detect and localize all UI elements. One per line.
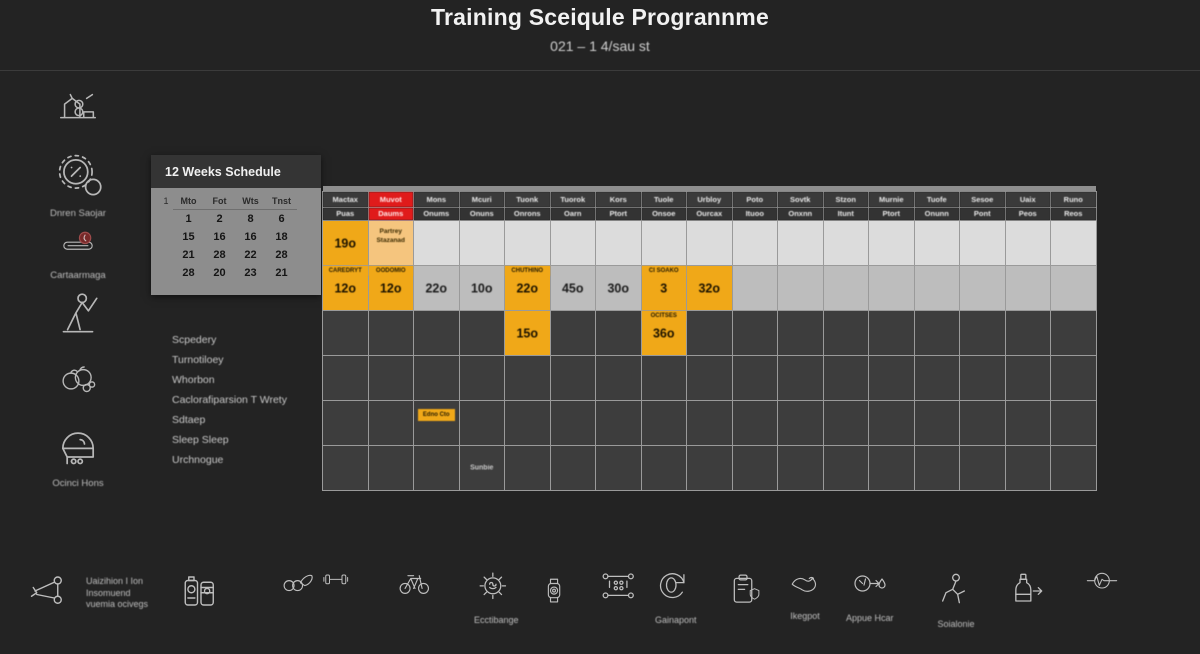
grid-cell-content bbox=[869, 221, 914, 265]
grid-cell-content bbox=[733, 266, 778, 310]
grid-cell-content bbox=[778, 221, 823, 265]
grid-cell-empty[interactable] bbox=[414, 310, 460, 355]
grid-cell-content bbox=[460, 401, 505, 445]
grid-column-header[interactable]: Oarn bbox=[550, 207, 596, 220]
grid-cell-content: 32o bbox=[687, 266, 732, 310]
grid-cell-content bbox=[687, 446, 732, 490]
grid-cell-content bbox=[551, 446, 596, 490]
grid-cell-empty[interactable] bbox=[732, 265, 778, 310]
grid-column-header[interactable]: Onunn bbox=[914, 207, 960, 220]
calendar-date-cell[interactable]: 16 bbox=[235, 228, 266, 246]
grid-cell-value: 30o bbox=[596, 281, 641, 295]
grid-column-header[interactable]: Itunt bbox=[823, 207, 869, 220]
grid-cell-filled[interactable]: OODOMIO12o bbox=[368, 265, 414, 310]
calendar-day-header: Mto bbox=[173, 193, 204, 210]
calendar-panel[interactable]: 12 Weeks Schedule 1MtoFotWtsTnst12861516… bbox=[151, 155, 321, 295]
grid-cell-content bbox=[869, 446, 914, 490]
grid-cell-content bbox=[915, 221, 960, 265]
sidebar-item-2[interactable]: Dnren Saojar bbox=[18, 148, 138, 220]
grid-cell-content: 19o bbox=[323, 221, 368, 265]
calendar-date-cell[interactable]: 8 bbox=[235, 210, 266, 228]
grid-cell-empty[interactable] bbox=[368, 445, 414, 490]
grid-cell-value: 12o bbox=[323, 281, 368, 295]
grid-cell-filled[interactable]: CAREDRYT12o bbox=[323, 265, 369, 310]
grid-cell-filled[interactable]: Edno Cto bbox=[414, 400, 460, 445]
clipboard-shield-icon bbox=[728, 599, 766, 616]
grid-cell-value: 3 bbox=[642, 281, 687, 295]
grid-cell-empty[interactable] bbox=[732, 310, 778, 355]
grid-cell-empty[interactable] bbox=[550, 445, 596, 490]
grid-cell-empty[interactable] bbox=[1005, 220, 1051, 265]
grid-cell-ghost-label: Sunbie bbox=[460, 464, 505, 471]
sidebar-item-4[interactable] bbox=[18, 290, 138, 345]
grid-cell-content bbox=[915, 356, 960, 400]
grid-cell-value: 15o bbox=[505, 326, 550, 340]
grid-cell-empty[interactable] bbox=[914, 310, 960, 355]
grid-cell-empty[interactable] bbox=[1005, 265, 1051, 310]
grid-column-header[interactable]: Poto bbox=[732, 191, 778, 207]
bottom-item-9[interactable]: Gainapont bbox=[655, 570, 697, 627]
calendar-date-cell[interactable]: 1 bbox=[173, 210, 204, 228]
grid-cell-empty[interactable] bbox=[960, 220, 1006, 265]
grid-column-header[interactable]: Runo bbox=[1051, 191, 1097, 207]
grid-cell-empty[interactable] bbox=[732, 400, 778, 445]
grid-cell-value: 32o bbox=[687, 281, 732, 295]
grid-cell-content bbox=[323, 446, 368, 490]
calendar-date-cell[interactable]: 22 bbox=[235, 246, 266, 264]
grid-cell-empty[interactable] bbox=[596, 445, 642, 490]
tactics-board-icon bbox=[596, 595, 642, 612]
grid-cell-empty[interactable] bbox=[960, 400, 1006, 445]
grid-cell-empty[interactable] bbox=[823, 265, 869, 310]
grid-column-header[interactable]: Urbloy bbox=[687, 191, 733, 207]
grid-cell-empty[interactable] bbox=[596, 400, 642, 445]
bottom-icon-bar: Uaizihion I IonInsomuendvuemia ocivegsEc… bbox=[0, 570, 1200, 654]
grid-column-header[interactable]: Kors bbox=[596, 191, 642, 207]
grid-cell-empty[interactable] bbox=[596, 310, 642, 355]
grid-column-header[interactable]: Tuorok bbox=[550, 191, 596, 207]
calendar-date-cell[interactable]: 6 bbox=[266, 210, 297, 228]
grid-cell-content bbox=[551, 311, 596, 355]
grid-cell-filled[interactable]: 32o bbox=[687, 265, 733, 310]
grid-cell-filled[interactable]: 10o bbox=[459, 265, 505, 310]
calendar-row-spacer bbox=[159, 210, 173, 228]
calendar-date-cell[interactable]: 23 bbox=[235, 264, 266, 282]
grid-cell-empty[interactable] bbox=[1005, 310, 1051, 355]
sun-brain-icon bbox=[476, 595, 516, 612]
grid-cell-content bbox=[778, 356, 823, 400]
grid-cell-empty[interactable] bbox=[459, 355, 505, 400]
grid-cell-empty[interactable] bbox=[1051, 400, 1097, 445]
bottom-item-12[interactable]: Appue Hcar bbox=[846, 570, 894, 625]
calendar-date-cell[interactable]: 21 bbox=[266, 264, 297, 282]
grid-cell-empty[interactable] bbox=[914, 400, 960, 445]
grid-cell-content bbox=[824, 221, 869, 265]
grid-cell-content bbox=[460, 311, 505, 355]
grid-cell-filled[interactable]: OCITSES36o bbox=[641, 310, 687, 355]
grid-cell-content bbox=[1006, 311, 1051, 355]
grid-cell-content: OODOMIO12o bbox=[369, 266, 414, 310]
grid-column-header[interactable]: Peos bbox=[1005, 207, 1051, 220]
grid-cell-empty[interactable] bbox=[869, 445, 915, 490]
grid-cell-empty[interactable] bbox=[368, 355, 414, 400]
grid-cell-empty[interactable] bbox=[368, 400, 414, 445]
grid-row: Sunbie bbox=[323, 445, 1097, 490]
dumbbell-icon bbox=[315, 587, 359, 604]
grid-cell-empty[interactable] bbox=[960, 445, 1006, 490]
calendar-date-cell[interactable]: 18 bbox=[266, 228, 297, 246]
grid-column-header[interactable]: Ptort bbox=[596, 207, 642, 220]
grid-cell-content bbox=[551, 356, 596, 400]
bottom-item-label: Uaizihion I IonInsomuendvuemia ocivegs bbox=[86, 576, 176, 611]
grid-column-header[interactable]: Onums bbox=[414, 207, 460, 220]
grid-cell-empty[interactable] bbox=[641, 355, 687, 400]
grid-cell-empty[interactable] bbox=[869, 265, 915, 310]
calendar-date-cell[interactable]: 28 bbox=[173, 264, 204, 282]
grid-cell-filled[interactable]: CHUTHINO22o bbox=[505, 265, 551, 310]
calendar-row-spacer bbox=[159, 228, 173, 246]
grid-column-header[interactable]: Mcuri bbox=[459, 191, 505, 207]
grid-cell-content bbox=[505, 356, 550, 400]
grid-cell-filled[interactable]: CI SOAKO3 bbox=[641, 265, 687, 310]
grid-cell-value: 22o bbox=[414, 281, 459, 295]
grid-column-header[interactable]: Onuns bbox=[459, 207, 505, 220]
grid-cell-empty[interactable] bbox=[914, 445, 960, 490]
grid-cell-content bbox=[915, 446, 960, 490]
grid-cell-empty[interactable] bbox=[869, 220, 915, 265]
grid-column-header[interactable]: Onrons bbox=[505, 207, 551, 220]
bottom-item-label: Ecctibange bbox=[474, 615, 519, 627]
grid-cell-content bbox=[778, 311, 823, 355]
calendar-date-cell[interactable]: 16 bbox=[204, 228, 235, 246]
sidebar-item-3[interactable]: Cartaarmaga bbox=[18, 228, 138, 282]
grid-cell-empty[interactable] bbox=[459, 400, 505, 445]
grid-cell-content: OCITSES36o bbox=[642, 311, 687, 355]
grid-cell-empty[interactable] bbox=[1005, 445, 1051, 490]
grid-cell-empty[interactable] bbox=[414, 355, 460, 400]
grid-header-row-2: PuasDaumsOnumsOnunsOnronsOarnPtortOnsoeO… bbox=[323, 207, 1097, 220]
grid-cell-empty[interactable] bbox=[823, 310, 869, 355]
grid-cell-filled[interactable]: 45o bbox=[550, 265, 596, 310]
grid-cell-empty[interactable] bbox=[596, 355, 642, 400]
bottom-item-5[interactable] bbox=[392, 570, 438, 609]
grid-column-header[interactable]: Sovtk bbox=[778, 191, 824, 207]
grid-cell-empty[interactable] bbox=[687, 355, 733, 400]
grid-cell-filled[interactable]: 30o bbox=[596, 265, 642, 310]
bottom-item-1[interactable]: Uaizihion I IonInsomuendvuemia ocivegs bbox=[28, 570, 70, 617]
grid-cell-content bbox=[915, 311, 960, 355]
grid-cell-content bbox=[414, 311, 459, 355]
sidebar-item-5[interactable] bbox=[18, 360, 138, 407]
grid-cell-content bbox=[460, 221, 505, 265]
calendar-date-cell[interactable]: 21 bbox=[173, 246, 204, 264]
grid-cell-tag: CAREDRYT bbox=[323, 266, 368, 276]
bottom-item-4[interactable] bbox=[315, 570, 359, 605]
grid-cell-empty[interactable] bbox=[323, 400, 369, 445]
grid-column-header[interactable]: Uaix bbox=[1005, 191, 1051, 207]
bottom-item-6[interactable]: Ecctibange bbox=[474, 570, 519, 627]
grid-cell-empty[interactable] bbox=[414, 220, 460, 265]
grid-cell-empty[interactable] bbox=[1051, 220, 1097, 265]
grid-cell-empty[interactable] bbox=[641, 220, 687, 265]
grid-cell-empty[interactable] bbox=[687, 400, 733, 445]
meat-food-icon bbox=[278, 591, 320, 608]
grid-cell-content bbox=[1051, 266, 1096, 310]
grid-column-header[interactable]: Tuonk bbox=[505, 191, 551, 207]
grid-cell-empty[interactable] bbox=[368, 310, 414, 355]
bottom-item-11[interactable]: Ikegpot bbox=[782, 570, 828, 623]
grid-cell-filled[interactable]: 22o bbox=[414, 265, 460, 310]
calendar-date-cell[interactable]: 28 bbox=[204, 246, 235, 264]
grid-cell-filled[interactable]: 19o bbox=[323, 220, 369, 265]
grid-cell-value: 45o bbox=[551, 281, 596, 295]
grid-cell-empty[interactable] bbox=[1051, 265, 1097, 310]
bottom-item-8[interactable] bbox=[596, 570, 642, 613]
bottom-item-10[interactable] bbox=[728, 570, 766, 617]
grid-cell-empty[interactable] bbox=[960, 355, 1006, 400]
bottom-item-2[interactable] bbox=[180, 570, 222, 617]
calendar-day-header: Wts bbox=[235, 193, 266, 210]
grid-cell-empty[interactable] bbox=[778, 445, 824, 490]
bottom-item-14[interactable] bbox=[1010, 570, 1050, 617]
page-subtitle: 021 – 1 4/sau st bbox=[0, 38, 1200, 54]
grid-cell-content bbox=[733, 401, 778, 445]
grid-cell-content: 22o bbox=[414, 266, 459, 310]
grid-cell-content bbox=[869, 311, 914, 355]
grid-cell-empty[interactable] bbox=[687, 445, 733, 490]
grid-cell-content bbox=[1051, 221, 1096, 265]
grid-cell-content bbox=[414, 356, 459, 400]
grid-cell-content bbox=[915, 266, 960, 310]
grid-cell-content: Sunbie bbox=[460, 446, 505, 490]
grid-cell-empty[interactable] bbox=[778, 400, 824, 445]
grid-cell-empty[interactable] bbox=[550, 220, 596, 265]
grid-cell-content: 10o bbox=[460, 266, 505, 310]
grid-cell-content bbox=[596, 401, 641, 445]
grid-cell-content bbox=[551, 401, 596, 445]
grid-cell-empty[interactable] bbox=[641, 400, 687, 445]
grid-column-header-active[interactable]: Muvot bbox=[368, 191, 414, 207]
calendar-body[interactable]: 1MtoFotWtsTnst12861516161821282228282023… bbox=[151, 188, 321, 288]
calendar-date-cell[interactable]: 15 bbox=[173, 228, 204, 246]
grid-row bbox=[323, 355, 1097, 400]
grid-cell-note: PartreyStazanad bbox=[369, 227, 414, 247]
grid-cell-empty[interactable] bbox=[778, 220, 824, 265]
grid-cell-content bbox=[824, 311, 869, 355]
running-person-icon bbox=[936, 599, 976, 616]
grid-cell-empty[interactable] bbox=[869, 310, 915, 355]
grid-cell-empty[interactable] bbox=[323, 445, 369, 490]
page-title: Training Sceiqule Progrannme bbox=[0, 4, 1200, 31]
grid-cell-tag: OCITSES bbox=[642, 311, 687, 321]
grid-column-header[interactable]: Tuofe bbox=[914, 191, 960, 207]
grid-cell-content bbox=[1051, 401, 1096, 445]
grid-cell-empty[interactable] bbox=[914, 265, 960, 310]
grid-cell-content bbox=[1006, 356, 1051, 400]
grid-cell-empty[interactable] bbox=[414, 445, 460, 490]
grid-cell-empty[interactable] bbox=[550, 400, 596, 445]
grid-cell-empty[interactable] bbox=[869, 400, 915, 445]
grid-column-header[interactable]: Onxnn bbox=[778, 207, 824, 220]
grid-cell-empty[interactable] bbox=[1051, 355, 1097, 400]
grid-cell-content bbox=[596, 311, 641, 355]
calendar-day-header: Tnst bbox=[266, 193, 297, 210]
grid-cell-empty[interactable] bbox=[960, 265, 1006, 310]
grid-cell-content: 45o bbox=[551, 266, 596, 310]
bottom-item-13[interactable]: Soialonie bbox=[936, 570, 976, 631]
grid-cell-empty[interactable] bbox=[1051, 310, 1097, 355]
grid-cell-content bbox=[1051, 356, 1096, 400]
grid-cell-empty[interactable] bbox=[960, 310, 1006, 355]
page-header: Training Sceiqule Progrannme 021 – 1 4/s… bbox=[0, 0, 1200, 70]
grid-cell-content: CAREDRYT12o bbox=[323, 266, 368, 310]
grid-column-header[interactable]: Onsoe bbox=[641, 207, 687, 220]
calendar-dayheader-row: 1MtoFotWtsTnst bbox=[159, 193, 313, 210]
grid-cell-content bbox=[323, 401, 368, 445]
grid-cell-empty[interactable] bbox=[823, 445, 869, 490]
bottle-arrow-icon bbox=[1010, 599, 1050, 616]
sidebar-item-6[interactable]: Ocinci Hons bbox=[18, 418, 138, 490]
calendar-week-row: 1286 bbox=[159, 210, 313, 228]
grid-cell-content bbox=[323, 311, 368, 355]
grid-row: CAREDRYT12oOODOMIO12o22o10oCHUTHINO22o45… bbox=[323, 265, 1097, 310]
grid-column-header[interactable]: Mactax bbox=[323, 191, 369, 207]
grid-cell-content bbox=[824, 401, 869, 445]
grid-cell-empty[interactable] bbox=[459, 220, 505, 265]
grid-cell-empty[interactable] bbox=[550, 355, 596, 400]
calendar-week-row: 15161618 bbox=[159, 228, 313, 246]
grid-cell-content bbox=[960, 266, 1005, 310]
grid-column-header[interactable]: Tuole bbox=[641, 191, 687, 207]
grid-cell-empty[interactable] bbox=[823, 355, 869, 400]
grid-cell-content bbox=[733, 356, 778, 400]
grid-cell-tag: CI SOAKO bbox=[642, 266, 687, 276]
calendar-title: 12 Weeks Schedule bbox=[151, 155, 321, 188]
grid-cell-empty[interactable] bbox=[778, 355, 824, 400]
schedule-grid[interactable]: MactaxMuvotMonsMcuriTuonkTuorokKorsTuole… bbox=[322, 186, 1097, 491]
percent-target-icon bbox=[18, 148, 138, 205]
grid-cell-chip[interactable]: Edno Cto bbox=[418, 409, 455, 421]
grid-header-row-1: MactaxMuvotMonsMcuriTuonkTuorokKorsTuole… bbox=[323, 191, 1097, 207]
app-root: Training Sceiqule Progrannme 021 – 1 4/s… bbox=[0, 0, 1200, 654]
calendar-date-cell[interactable]: 2 bbox=[204, 210, 235, 228]
supplement-bottles-icon bbox=[180, 599, 222, 616]
grid-cell-filled[interactable]: PartreyStazanad bbox=[368, 220, 414, 265]
grid-cell-value: 10o bbox=[460, 281, 505, 295]
grid-column-header[interactable]: Pont bbox=[960, 207, 1006, 220]
grid-cell-content bbox=[824, 266, 869, 310]
bottom-item-7[interactable] bbox=[542, 570, 576, 619]
grid-cell-empty[interactable] bbox=[505, 445, 551, 490]
calendar-week-row: 21282228 bbox=[159, 246, 313, 264]
grid-cell-empty[interactable] bbox=[505, 400, 551, 445]
grid-cell-content: 15o bbox=[505, 311, 550, 355]
grid-cell-empty[interactable] bbox=[505, 220, 551, 265]
grid-cell-empty[interactable] bbox=[914, 355, 960, 400]
grid-cell-content bbox=[960, 221, 1005, 265]
grid-column-header[interactable]: Ptort bbox=[869, 207, 915, 220]
network-nodes-icon bbox=[28, 599, 70, 616]
grid-column-header-active[interactable]: Daums bbox=[368, 207, 414, 220]
grid-cell-content bbox=[733, 221, 778, 265]
grid-column-header[interactable]: Sesoe bbox=[960, 191, 1006, 207]
grid-cell-empty[interactable] bbox=[823, 220, 869, 265]
grid-cell-content bbox=[687, 221, 732, 265]
grid-cell-empty[interactable] bbox=[1051, 445, 1097, 490]
grid-cell-content bbox=[1006, 266, 1051, 310]
calendar-date-cell[interactable]: 28 bbox=[266, 246, 297, 264]
grid-cell-empty[interactable] bbox=[459, 310, 505, 355]
grid-cell-content bbox=[323, 356, 368, 400]
grid-column-header[interactable]: Reos bbox=[1051, 207, 1097, 220]
grid-cell-content: Edno Cto bbox=[414, 401, 459, 445]
grid-cell-content bbox=[1006, 446, 1051, 490]
sidebar-item-1[interactable] bbox=[18, 85, 138, 136]
grid-column-header[interactable]: Ourcax bbox=[687, 207, 733, 220]
schedule-table[interactable]: MactaxMuvotMonsMcuriTuonkTuorokKorsTuole… bbox=[322, 186, 1097, 491]
grid-cell-content bbox=[1051, 446, 1096, 490]
grid-cell-content: 30o bbox=[596, 266, 641, 310]
refresh-cycle-icon bbox=[657, 595, 695, 612]
bottom-item-label: Appue Hcar bbox=[846, 613, 894, 625]
bottom-item-15[interactable] bbox=[1078, 570, 1126, 607]
grid-cell-empty[interactable] bbox=[641, 445, 687, 490]
calendar-date-cell[interactable]: 20 bbox=[204, 264, 235, 282]
grid-cell-empty[interactable] bbox=[596, 220, 642, 265]
calendar-week-row: 28202321 bbox=[159, 264, 313, 282]
grid-cell-content bbox=[687, 356, 732, 400]
grid-cell-empty[interactable] bbox=[732, 355, 778, 400]
grid-cell-empty[interactable] bbox=[914, 220, 960, 265]
grid-cell-empty[interactable] bbox=[687, 220, 733, 265]
grid-cell-content bbox=[369, 401, 414, 445]
grid-cell-filled[interactable]: Sunbie bbox=[459, 445, 505, 490]
grid-cell-content: CHUTHINO22o bbox=[505, 266, 550, 310]
sidebar-item-label: Cartaarmaga bbox=[18, 270, 138, 282]
bottom-item-label: Ikegpot bbox=[782, 611, 828, 623]
grid-cell-empty[interactable] bbox=[323, 355, 369, 400]
bottom-item-label: Gainapont bbox=[655, 615, 697, 627]
grid-cell-filled[interactable]: 15o bbox=[505, 310, 551, 355]
grid-cell-content bbox=[596, 356, 641, 400]
grid-cell-empty[interactable] bbox=[1005, 400, 1051, 445]
bottom-item-3[interactable] bbox=[278, 570, 320, 609]
grid-cell-empty[interactable] bbox=[869, 355, 915, 400]
grid-cell-empty[interactable] bbox=[550, 310, 596, 355]
grid-cell-empty[interactable] bbox=[778, 310, 824, 355]
grid-cell-value: 12o bbox=[369, 281, 414, 295]
grid-cell-empty[interactable] bbox=[505, 355, 551, 400]
grid-cell-empty[interactable] bbox=[778, 265, 824, 310]
grid-column-header[interactable]: Stzon bbox=[823, 191, 869, 207]
grid-cell-empty[interactable] bbox=[823, 400, 869, 445]
grid-cell-empty[interactable] bbox=[323, 310, 369, 355]
grid-cell-content bbox=[733, 311, 778, 355]
grid-cell-empty[interactable] bbox=[732, 220, 778, 265]
grid-cell-empty[interactable] bbox=[732, 445, 778, 490]
muscle-icon bbox=[782, 591, 828, 608]
grid-column-header[interactable]: Ituoo bbox=[732, 207, 778, 220]
grid-column-header[interactable]: Mons bbox=[414, 191, 460, 207]
grid-cell-empty[interactable] bbox=[1005, 355, 1051, 400]
bicycle-icon bbox=[392, 591, 438, 608]
grid-column-header[interactable]: Murnie bbox=[869, 191, 915, 207]
grid-cell-content bbox=[596, 446, 641, 490]
grid-cell-content bbox=[369, 311, 414, 355]
fruit-nutrition-icon bbox=[18, 360, 138, 407]
grid-cell-empty[interactable] bbox=[687, 310, 733, 355]
grid-column-header[interactable]: Puas bbox=[323, 207, 369, 220]
